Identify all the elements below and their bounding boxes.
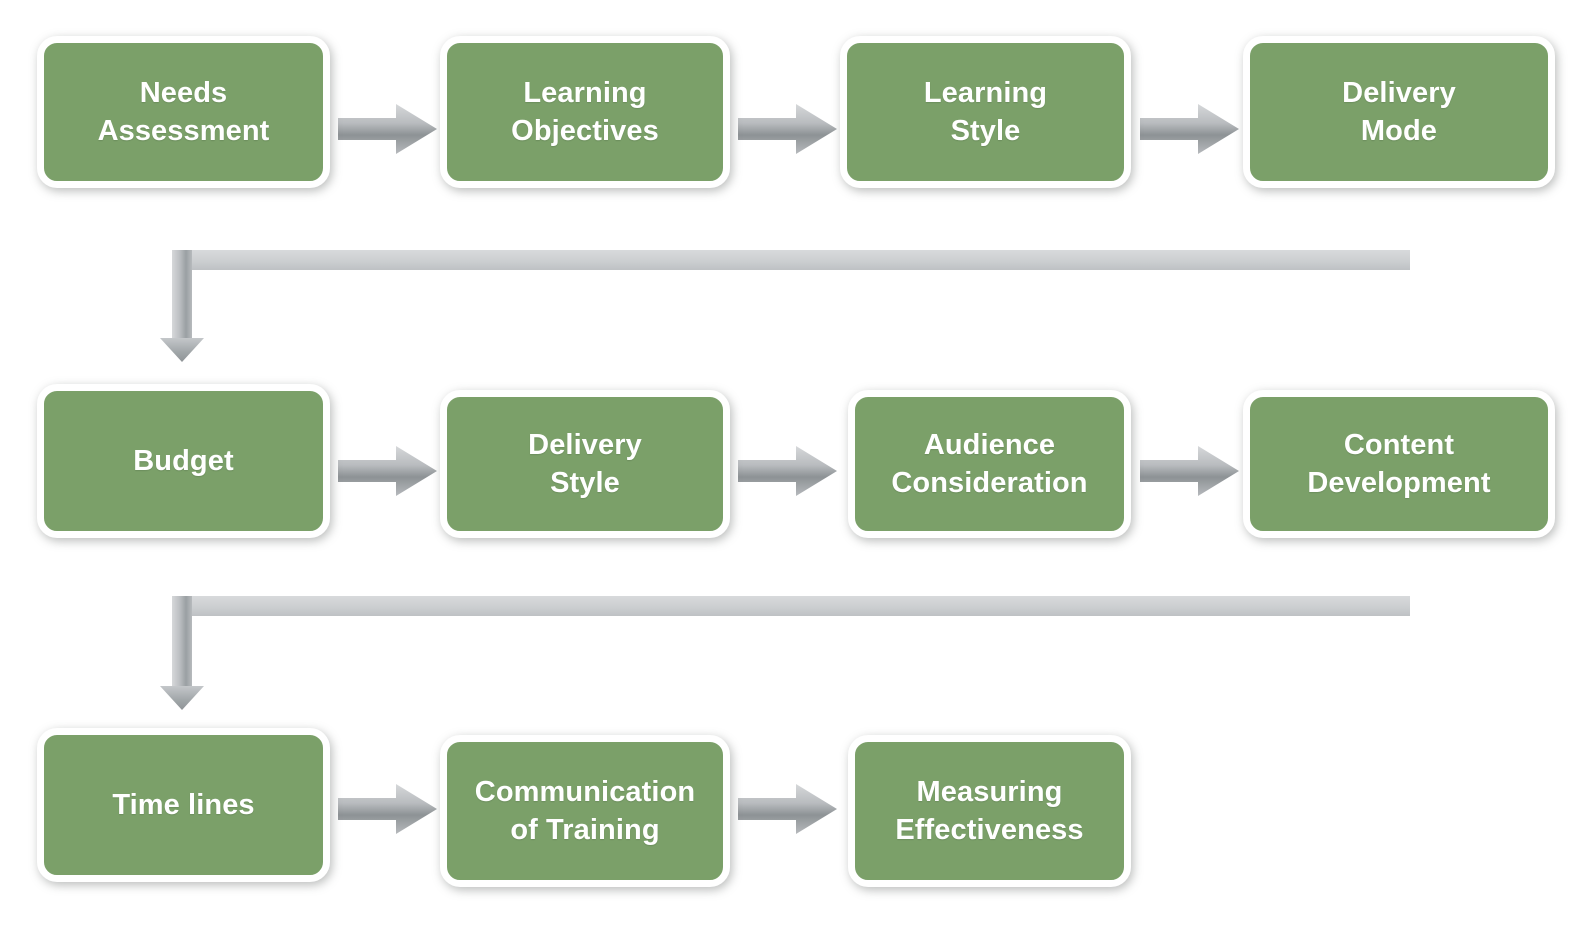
arrow-style-to-mode [1140,100,1240,158]
arrow-delivery-to-audience [738,442,838,500]
node-label-audience-consideration: AudienceConsideration [881,426,1097,503]
arrow-audience-to-content [1140,442,1240,500]
node-delivery-style[interactable]: DeliveryStyle [440,390,730,538]
arrow-needs-to-objectives [338,100,438,158]
node-learning-objectives[interactable]: LearningObjectives [440,36,730,188]
node-time-lines[interactable]: Time lines [37,728,330,882]
node-label-content-development: ContentDevelopment [1297,426,1500,503]
arrow-budget-to-delivery [338,442,438,500]
elbow-mode-to-budget [155,242,1425,362]
elbow-content-to-timelines [155,588,1425,710]
node-needs-assessment[interactable]: NeedsAssessment [37,36,330,188]
arrow-comm-to-measuring [738,780,838,838]
node-label-learning-style: LearningStyle [914,74,1057,151]
node-delivery-mode[interactable]: DeliveryMode [1243,36,1555,188]
arrow-timelines-to-comm [338,780,438,838]
flowchart-canvas: NeedsAssessment LearningObjectives Learn… [0,0,1596,949]
node-label-needs-assessment: NeedsAssessment [88,74,280,151]
node-label-communication-of-training: Communicationof Training [465,773,705,850]
node-budget[interactable]: Budget [37,384,330,538]
node-content-development[interactable]: ContentDevelopment [1243,390,1555,538]
node-label-delivery-mode: DeliveryMode [1332,74,1466,151]
node-label-time-lines: Time lines [102,786,264,824]
node-audience-consideration[interactable]: AudienceConsideration [848,390,1131,538]
node-label-measuring-effectiveness: MeasuringEffectiveness [885,773,1093,850]
node-learning-style[interactable]: LearningStyle [840,36,1131,188]
node-label-learning-objectives: LearningObjectives [501,74,669,151]
node-measuring-effectiveness[interactable]: MeasuringEffectiveness [848,735,1131,887]
node-label-delivery-style: DeliveryStyle [518,426,652,503]
node-label-budget: Budget [123,442,243,480]
arrow-objectives-to-style [738,100,838,158]
node-communication-of-training[interactable]: Communicationof Training [440,735,730,887]
